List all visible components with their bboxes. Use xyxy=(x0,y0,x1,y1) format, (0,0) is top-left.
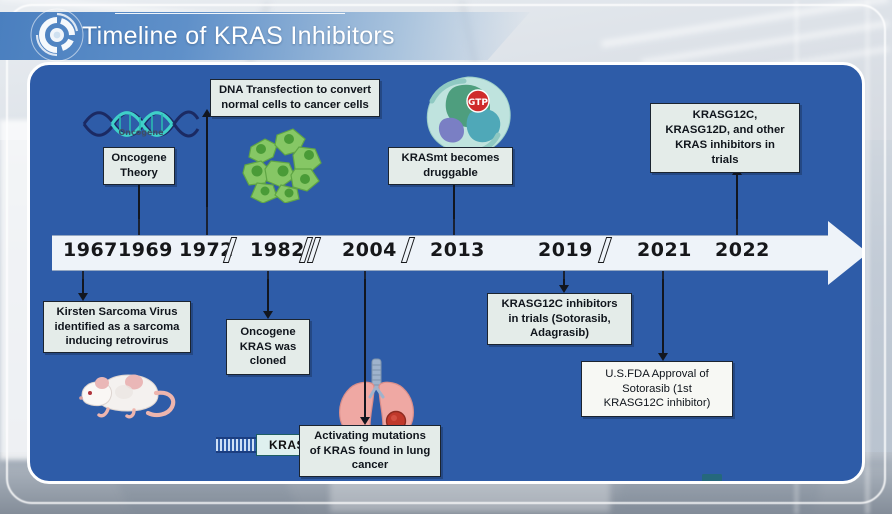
connector-head-lung-cancer xyxy=(360,417,370,425)
callout-line: KRAS inhibitors in xyxy=(675,138,775,153)
connector-oncogene-theory xyxy=(138,183,140,219)
callout-activating-mutations-lung[interactable]: Activating mutations of KRAS found in lu… xyxy=(299,425,441,477)
callout-g12c-inhibitors-trials[interactable]: KRASG12C inhibitors in trials (Sotorasib… xyxy=(487,293,632,345)
callout-kras-inhibitors-trials[interactable]: KRASG12C, KRASG12D, and other KRAS inhib… xyxy=(650,103,800,173)
connector-fda-approval xyxy=(662,279,664,355)
callout-line: druggable xyxy=(423,166,478,181)
callout-line: cancer xyxy=(352,458,388,473)
header-hairline xyxy=(115,13,345,14)
callout-line: identified as a sarcoma xyxy=(55,320,180,335)
connector-kras-cloned xyxy=(267,279,269,313)
lab-mouse-icon xyxy=(72,363,180,419)
callout-line: Kirsten Sarcoma Virus xyxy=(57,305,178,320)
tick-1972 xyxy=(206,205,208,235)
callout-line: Theory xyxy=(120,166,158,181)
callout-line: Adagrasib) xyxy=(530,326,589,341)
callout-line: normal cells to cancer cells xyxy=(221,98,369,113)
gtp-label: GTP xyxy=(468,98,488,108)
timeline-year-1982: 1982 xyxy=(250,239,305,261)
screenshot-canvas: Timeline of KRAS Inhibitors Oncogene xyxy=(0,0,892,514)
connector-head-fda-approval xyxy=(658,353,668,361)
timeline-year-2021: 2021 xyxy=(637,239,692,261)
callout-line: KRASG12D, and other xyxy=(665,123,784,138)
callout-line: of KRAS found in lung xyxy=(310,444,430,459)
callout-fda-approval-sotorasib[interactable]: U.S.FDA Approval of Sotorasib (1st KRASG… xyxy=(581,361,733,417)
circular-arcs-logo-icon xyxy=(28,7,86,63)
connector-krasmt xyxy=(453,183,455,219)
callout-line: KRASG12C inhibitors xyxy=(501,297,617,312)
cancer-cells-cluster-icon xyxy=(233,125,343,203)
callout-line: Oncogene xyxy=(111,151,166,166)
callout-line: U.S.FDA Approval of xyxy=(605,367,709,382)
kras-protein-structure-icon: GTP xyxy=(422,75,514,157)
page-title: Timeline of KRAS Inhibitors xyxy=(82,22,395,51)
connector-head-g12c-trials xyxy=(559,285,569,293)
callout-kirsten-sarcoma-virus[interactable]: Kirsten Sarcoma Virus identified as a sa… xyxy=(43,301,191,353)
medicine-bottle-icon xyxy=(688,473,756,484)
callout-line: inducing retrovirus xyxy=(66,334,169,349)
timeline-year-2019: 2019 xyxy=(538,239,593,261)
connector-head-kras-cloned xyxy=(263,311,273,319)
dna-helix-caption: Oncogene xyxy=(118,128,164,137)
timeline-year-2004: 2004 xyxy=(342,239,397,261)
callout-line: KRASmt becomes xyxy=(402,151,500,166)
callout-line: Oncogene xyxy=(240,325,295,340)
callout-line: in trials (Sotorasib, xyxy=(508,312,610,327)
callout-line: KRASG12C, xyxy=(693,108,758,123)
callout-line: KRASG12C inhibitor) xyxy=(604,396,711,411)
connector-kras-trials xyxy=(736,173,738,219)
connector-lung-cancer xyxy=(364,279,366,419)
callout-line: KRAS was xyxy=(240,340,297,355)
connector-dna-transfection xyxy=(206,115,208,207)
timeline-panel: Oncogene xyxy=(27,62,865,484)
callout-oncogene-kras-cloned[interactable]: Oncogene KRAS was cloned xyxy=(226,319,310,375)
callout-line: cloned xyxy=(250,354,286,369)
callout-line: DNA Transfection to convert xyxy=(219,83,371,98)
callout-line: trials xyxy=(711,153,738,168)
callout-dna-transfection[interactable]: DNA Transfection to convert normal cells… xyxy=(210,79,380,117)
connector-head-kirsten-sarcoma xyxy=(78,293,88,301)
dna-helix-icon: Oncogene xyxy=(82,107,200,141)
timeline-year-1969: 1969 xyxy=(118,239,173,261)
callout-line: Activating mutations xyxy=(314,429,426,444)
callout-krasmt-druggable[interactable]: KRASmt becomes druggable xyxy=(388,147,513,185)
timeline-year-2013: 2013 xyxy=(430,239,485,261)
callout-oncogene-theory[interactable]: Oncogene Theory xyxy=(103,147,175,185)
timeline-year-2022: 2022 xyxy=(715,239,770,261)
timeline-year-1967: 1967 xyxy=(63,239,118,261)
timeline-arrowhead xyxy=(828,221,865,285)
callout-line: Sotorasib (1st xyxy=(622,382,692,397)
